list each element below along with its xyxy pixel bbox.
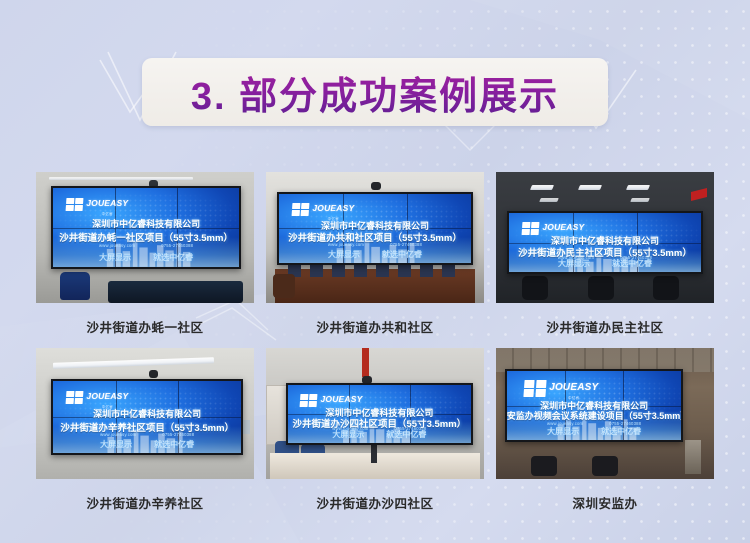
case-caption-3: 沙井街道办民主社区	[496, 317, 714, 336]
logo-mark-icon	[66, 391, 84, 404]
screen-slogan-line: 大屏显示 就选中亿睿	[279, 249, 471, 260]
desk-monitors	[288, 265, 462, 277]
case-item-4[interactable]: JOUEASY 中亿睿 深圳市中亿睿科技有限公司 沙井街道办辛养社区项目（55寸…	[36, 348, 254, 512]
case-item-3[interactable]: JOUEASY 中亿睿 深圳市中亿睿科技有限公司 沙井街道办民主社区项目（55寸…	[496, 172, 714, 336]
screen-company-line: 深圳市中亿睿科技有限公司	[53, 407, 241, 420]
meeting-chair	[522, 276, 548, 300]
meeting-chair	[531, 456, 557, 476]
logo-mark-icon	[300, 394, 318, 407]
slogan-right: 就选中亿睿	[612, 258, 652, 269]
ceiling-light	[630, 198, 650, 202]
slogan-left: 大屏显示	[100, 439, 132, 450]
gallery-row-1: JOUEASY 中亿睿 深圳市中亿睿科技有限公司 沙井街道办蚝一社区项目（55寸…	[36, 172, 714, 336]
joueasy-logo: JOUEASY 中亿睿	[66, 386, 128, 409]
logo-wordmark: JOUEASY	[542, 222, 584, 232]
joueasy-logo: JOUEASY 中亿睿	[66, 193, 128, 216]
screen-project-line: 沙井街道办蚝一社区项目（55寸3.5mm）	[53, 230, 239, 244]
screen-slogan-line: 大屏显示 就选中亿睿	[53, 252, 239, 263]
page-title: 3. 部分成功案例展示	[191, 65, 559, 120]
lcd-video-wall: JOUEASY 中亿睿 深圳市中亿睿科技有限公司 沙井街道办共和社区项目（55寸…	[277, 192, 473, 265]
meeting-chair	[273, 274, 295, 298]
slogan-left: 大屏显示	[558, 258, 590, 269]
case-showcase-page: 3. 部分成功案例展示	[0, 0, 750, 543]
lcd-video-wall: JOUEASY 中亿睿 深圳市中亿睿科技有限公司 安监办视频会议系统建设项目（5…	[505, 369, 684, 442]
case-caption-4: 沙井街道办辛养社区	[36, 493, 254, 512]
contact-website: www.joueasy.com	[328, 242, 364, 247]
case-item-6[interactable]: JOUEASY 中亿睿 深圳市中亿睿科技有限公司 安监办视频会议系统建设项目（5…	[496, 348, 714, 512]
contact-phone: 0755-27460388	[161, 243, 193, 248]
ceiling-camera	[362, 376, 372, 384]
slogan-right: 就选中亿睿	[154, 439, 194, 450]
screen-slogan-line: 大屏显示 就选中亿睿	[507, 426, 682, 437]
case-caption-2: 沙井街道办共和社区	[266, 317, 484, 336]
screen-slogan-line: 大屏显示 就选中亿睿	[53, 439, 241, 450]
screen-contact-line: www.joueasy.com 0755-27460388	[279, 242, 471, 247]
logo-wordmark: JOUEASY	[320, 394, 362, 404]
ceiling-light	[626, 185, 650, 190]
ceiling-light	[530, 185, 554, 190]
logo-mark-icon	[66, 198, 84, 211]
case-caption-1: 沙井街道办蚝一社区	[36, 317, 254, 336]
lcd-video-wall: JOUEASY 中亿睿 深圳市中亿睿科技有限公司 沙井街道办沙四社区项目（55寸…	[286, 383, 474, 445]
case-photo-1[interactable]: JOUEASY 中亿睿 深圳市中亿睿科技有限公司 沙井街道办蚝一社区项目（55寸…	[36, 172, 254, 303]
wall-panel	[243, 420, 250, 434]
case-photo-3[interactable]: JOUEASY 中亿睿 深圳市中亿睿科技有限公司 沙井街道办民主社区项目（55寸…	[496, 172, 714, 303]
logo-wordmark: JOUEASY	[312, 203, 354, 213]
logo-subtext: 中亿睿	[86, 211, 128, 216]
logo-wordmark: JOUEASY	[549, 382, 598, 393]
screen-slogan-line: 大屏显示 就选中亿睿	[509, 258, 701, 269]
screen-contact-line: www.joueasy.com 0755-27460388	[53, 432, 241, 437]
logo-wordmark: JOUEASY	[86, 391, 128, 401]
gallery-row-2: JOUEASY 中亿睿 深圳市中亿睿科技有限公司 沙井街道办辛养社区项目（55寸…	[36, 348, 714, 512]
case-gallery: JOUEASY 中亿睿 深圳市中亿睿科技有限公司 沙井街道办蚝一社区项目（55寸…	[36, 172, 714, 512]
logo-mark-icon	[524, 380, 547, 397]
ceiling-light	[578, 185, 602, 190]
case-photo-5[interactable]: JOUEASY 中亿睿 深圳市中亿睿科技有限公司 沙井街道办沙四社区项目（55寸…	[266, 348, 484, 479]
slogan-left: 大屏显示	[332, 429, 364, 440]
contact-website: www.joueasy.com	[100, 432, 136, 437]
ceiling-light	[539, 198, 559, 202]
lcd-video-wall: JOUEASY 中亿睿 深圳市中亿睿科技有限公司 沙井街道办蚝一社区项目（55寸…	[51, 186, 241, 269]
slogan-right: 就选中亿睿	[386, 429, 426, 440]
case-item-2[interactable]: JOUEASY 中亿睿 深圳市中亿睿科技有限公司 沙井街道办共和社区项目（55寸…	[266, 172, 484, 336]
case-caption-5: 沙井街道办沙四社区	[266, 493, 484, 512]
joueasy-logo: JOUEASY 中亿睿	[524, 377, 598, 400]
slogan-right: 就选中亿睿	[153, 252, 193, 263]
screen-company-line: 深圳市中亿睿科技有限公司	[53, 217, 239, 230]
joueasy-logo: JOUEASY 中亿睿	[292, 198, 354, 221]
red-pillar	[362, 348, 369, 377]
logo-mark-icon	[522, 222, 540, 235]
section-title-card: 3. 部分成功案例展示	[142, 58, 608, 126]
meeting-chair	[588, 276, 614, 300]
case-item-1[interactable]: JOUEASY 中亿睿 深圳市中亿睿科技有限公司 沙井街道办蚝一社区项目（55寸…	[36, 172, 254, 336]
lcd-video-wall: JOUEASY 中亿睿 深圳市中亿睿科技有限公司 沙井街道办辛养社区项目（55寸…	[51, 379, 243, 455]
screen-slogan-line: 大屏显示 就选中亿睿	[288, 429, 472, 440]
case-caption-6: 深圳安监办	[496, 493, 714, 512]
meeting-chair	[653, 276, 679, 300]
slogan-left: 大屏显示	[547, 426, 579, 437]
logo-wordmark: JOUEASY	[86, 198, 128, 208]
case-photo-2[interactable]: JOUEASY 中亿睿 深圳市中亿睿科技有限公司 沙井街道办共和社区项目（55寸…	[266, 172, 484, 303]
logo-mark-icon	[292, 203, 310, 216]
case-photo-4[interactable]: JOUEASY 中亿睿 深圳市中亿睿科技有限公司 沙井街道办辛养社区项目（55寸…	[36, 348, 254, 479]
ceiling-light	[49, 177, 193, 180]
case-item-5[interactable]: JOUEASY 中亿睿 深圳市中亿睿科技有限公司 沙井街道办沙四社区项目（55寸…	[266, 348, 484, 512]
meeting-chair	[592, 456, 618, 476]
lcd-video-wall: JOUEASY 中亿睿 深圳市中亿睿科技有限公司 沙井街道办民主社区项目（55寸…	[507, 211, 703, 274]
slogan-left: 大屏显示	[328, 249, 360, 260]
slogan-left: 大屏显示	[99, 252, 131, 263]
screen-contact-line: www.joueasy.com 0755-27460388	[53, 243, 239, 248]
contact-phone: 0755-27460388	[162, 432, 194, 437]
stepladder	[685, 440, 701, 474]
slogan-right: 就选中亿睿	[382, 249, 422, 260]
office-chair	[60, 272, 90, 300]
ceiling-camera	[149, 370, 158, 378]
conference-table	[108, 281, 243, 303]
contact-phone: 0755-27460388	[390, 242, 422, 247]
slogan-right: 就选中亿睿	[601, 426, 641, 437]
case-photo-6[interactable]: JOUEASY 中亿睿 深圳市中亿睿科技有限公司 安监办视频会议系统建设项目（5…	[496, 348, 714, 479]
contact-website: www.joueasy.com	[99, 243, 135, 248]
ceiling-camera	[371, 182, 381, 190]
